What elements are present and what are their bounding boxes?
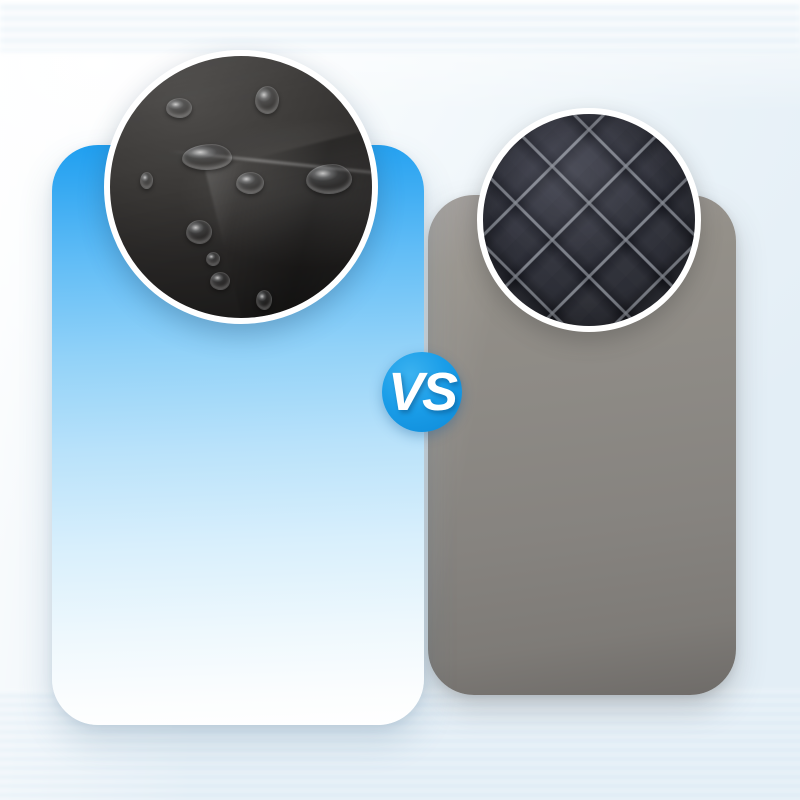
water-droplet (256, 290, 272, 310)
water-droplet (206, 252, 220, 266)
quilt-vignette (483, 114, 695, 326)
water-droplet (210, 272, 230, 290)
water-droplet (166, 98, 192, 118)
background-ripple-top (0, 0, 800, 52)
water-droplet (186, 220, 212, 244)
others-hero-image (477, 108, 701, 332)
water-droplet (236, 172, 264, 194)
vs-badge-circle (382, 352, 462, 432)
water-droplet (306, 164, 352, 194)
water-droplet (255, 86, 279, 114)
water-droplet (182, 144, 232, 170)
ours-hero-image (104, 50, 378, 324)
water-droplet (140, 172, 153, 189)
